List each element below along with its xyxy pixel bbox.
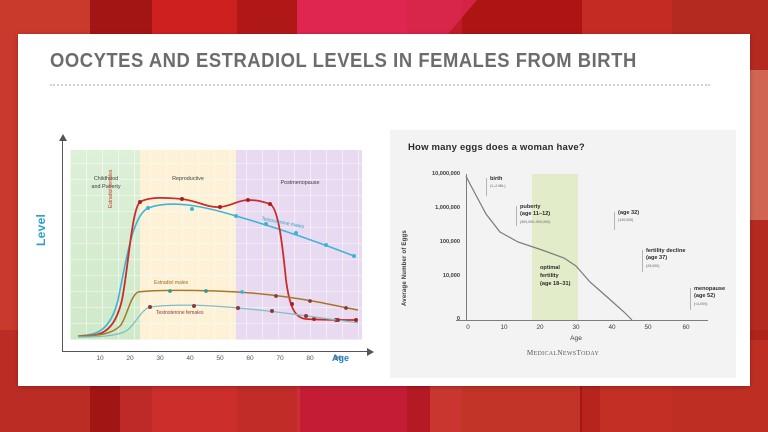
- right-chart-x-axis-label: Age: [570, 335, 582, 342]
- birth-leader-line: [486, 178, 487, 196]
- curve-label-testosterone-females: Testosterone females: [156, 310, 204, 316]
- right-y-tick-10000: 10,000: [404, 273, 460, 279]
- puberty-leader-line: [516, 206, 517, 226]
- annotation-age-32: (age 32) (120,000): [618, 210, 639, 225]
- annotation-birth: birth (1–2 MIL): [490, 176, 506, 191]
- right-x-tick-20: 20: [536, 324, 543, 331]
- right-x-tick-30: 30: [572, 324, 579, 331]
- right-y-tick-0: 0: [404, 316, 460, 322]
- left-x-tick-40: 40: [186, 355, 193, 362]
- left-x-tick-10: 10: [96, 355, 103, 362]
- left-chart-y-axis-label: Level: [34, 214, 48, 246]
- right-chart-panel: How many eggs does a woman have? Average…: [390, 130, 736, 378]
- right-x-tick-0: 0: [466, 324, 470, 331]
- right-chart-curve: [456, 170, 708, 322]
- right-x-tick-10: 10: [500, 324, 507, 331]
- menopause-leader-line: [690, 288, 691, 310]
- left-chart-panel: Level Childhood and Puberty Reproductive…: [32, 130, 380, 378]
- left-chart-x-axis-label: Age: [332, 353, 349, 363]
- right-chart-title: How many eggs does a woman have?: [408, 142, 585, 153]
- left-x-tick-70: 70: [276, 355, 283, 362]
- left-x-tick-30: 30: [156, 355, 163, 362]
- annotation-puberty: puberty (age 11–12) (300,000–500,000): [520, 204, 550, 226]
- age32-leader-line: [614, 212, 615, 230]
- curve-label-estradiol-females: Estradiol females: [108, 170, 114, 208]
- optimal-fertility-label: optimal fertility (age 18–31): [540, 264, 570, 288]
- right-x-tick-50: 50: [644, 324, 651, 331]
- title-divider: [50, 84, 710, 86]
- right-x-tick-60: 60: [682, 324, 689, 331]
- right-y-tick-100000: 100,000: [404, 239, 460, 245]
- annotation-fertility-decline: fertility decline (age 37) (25,000): [646, 248, 685, 270]
- right-y-tick-1000000: 1,000,000: [404, 205, 460, 211]
- left-chart-plot-area: Childhood and Puberty Reproductive Postm…: [70, 150, 362, 340]
- left-x-tick-60: 60: [246, 355, 253, 362]
- fertility-decline-leader-line: [642, 250, 643, 272]
- left-x-tick-20: 20: [126, 355, 133, 362]
- left-x-tick-50: 50: [216, 355, 223, 362]
- annotation-menopause: menopause (age 52) (<1,000): [694, 286, 725, 308]
- left-chart-y-axis: [62, 140, 63, 352]
- page-title: OOCYTES AND ESTRADIOL LEVELS IN FEMALES …: [50, 50, 637, 73]
- right-y-tick-10000000: 10,000,000: [404, 171, 460, 177]
- curve-label-estradiol-males: Estradiol males: [154, 280, 188, 286]
- right-x-tick-40: 40: [608, 324, 615, 331]
- source-logo: MEDICALNEWSTODAY: [527, 349, 599, 357]
- left-chart-x-axis: [62, 351, 368, 352]
- slide-card: OOCYTES AND ESTRADIOL LEVELS IN FEMALES …: [18, 34, 750, 386]
- left-x-tick-80: 80: [306, 355, 313, 362]
